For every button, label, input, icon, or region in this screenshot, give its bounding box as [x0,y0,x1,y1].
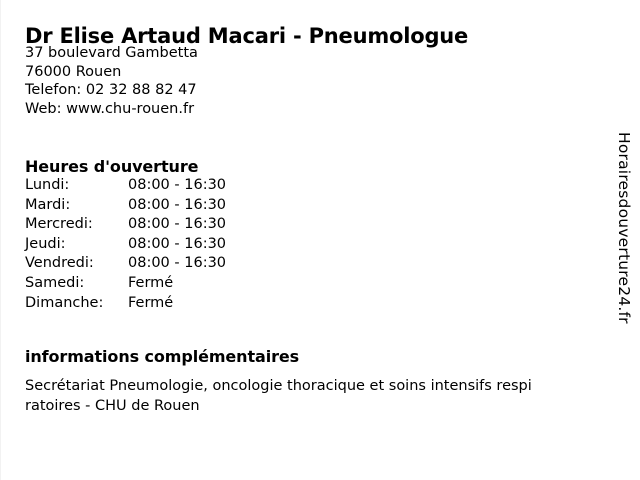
table-row: Mardi: 08:00 - 16:30 [25,196,226,216]
table-row: Vendredi: 08:00 - 16:30 [25,254,226,274]
opening-hours-heading: Heures d'ouverture [25,157,198,176]
site-watermark: Horairesdouverture24.fr [613,132,635,352]
hours-day-label: Mercredi: [25,215,128,235]
hours-day-label: Samedi: [25,274,128,294]
website-line: Web: www.chu-rouen.fr [25,100,198,119]
phone-line: Telefon: 02 32 88 82 47 [25,81,198,100]
table-row: Mercredi: 08:00 - 16:30 [25,215,226,235]
opening-hours-table: Lundi: 08:00 - 16:30 Mardi: 08:00 - 16:3… [25,176,226,313]
table-row: Jeudi: 08:00 - 16:30 [25,235,226,255]
hours-day-value: 08:00 - 16:30 [128,196,226,216]
table-row: Samedi: Fermé [25,274,226,294]
hours-day-value: Fermé [128,294,226,314]
address-city: 76000 Rouen [25,63,198,82]
extra-info-heading: informations complémentaires [25,347,299,366]
hours-day-value: 08:00 - 16:30 [128,254,226,274]
hours-day-value: 08:00 - 16:30 [128,235,226,255]
address-block: 37 boulevard Gambetta 76000 Rouen Telefo… [25,44,198,118]
hours-day-label: Dimanche: [25,294,128,314]
extra-info-text: Secrétariat Pneumologie, oncologie thora… [25,376,595,416]
table-row: Lundi: 08:00 - 16:30 [25,176,226,196]
hours-day-value: Fermé [128,274,226,294]
listing-page: Dr Elise Artaud Macari - Pneumologue 37 … [0,0,640,480]
extra-info-line-1: Secrétariat Pneumologie, oncologie thora… [25,376,595,396]
hours-day-label: Lundi: [25,176,128,196]
hours-day-label: Jeudi: [25,235,128,255]
table-row: Dimanche: Fermé [25,294,226,314]
address-street: 37 boulevard Gambetta [25,44,198,63]
extra-info-line-2: ratoires - CHU de Rouen [25,396,595,416]
hours-day-label: Vendredi: [25,254,128,274]
hours-day-value: 08:00 - 16:30 [128,176,226,196]
hours-day-value: 08:00 - 16:30 [128,215,226,235]
hours-day-label: Mardi: [25,196,128,216]
